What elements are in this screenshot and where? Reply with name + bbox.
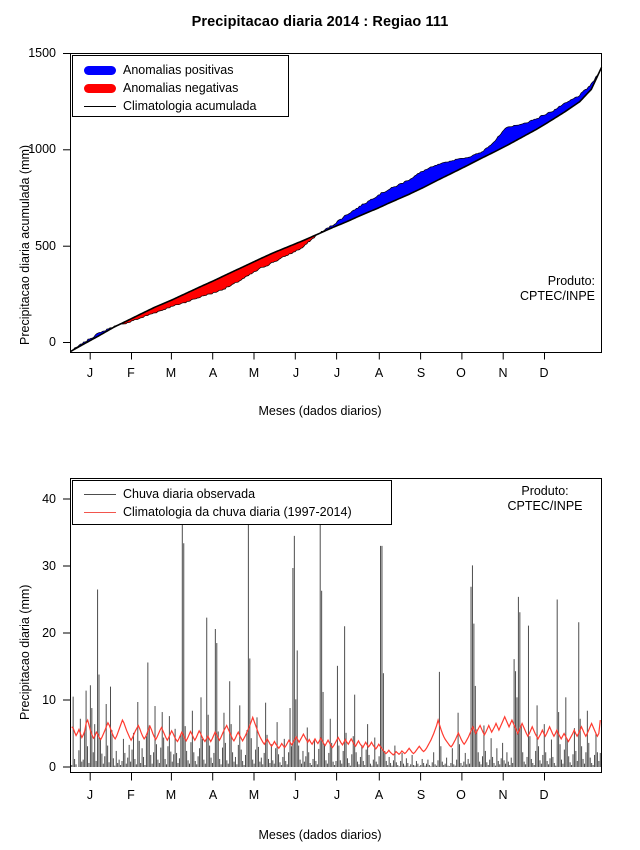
legend-item-anomalias-positivas: Anomalias positivas [77, 61, 284, 79]
legend-item-anomalias-negativas: Anomalias negativas [77, 79, 284, 97]
bottom-y-ticks [63, 499, 70, 767]
accumulated-precipitation-panel: Precipitacao diaria 2014 : Regiao 111 Pr… [0, 0, 640, 430]
figure-page: Precipitacao diaria 2014 : Regiao 111 Pr… [0, 0, 640, 850]
legend-label: Anomalias negativas [123, 81, 238, 95]
blue-swatch-icon [77, 66, 123, 75]
bottom-legend: Chuva diaria observada Climatologia da c… [72, 480, 392, 525]
daily-precipitation-panel: Precipitacao diaria (mm) 0 10 20 30 40 J… [0, 430, 640, 850]
legend-label: Climatologia da chuva diaria (1997-2014) [123, 505, 352, 519]
legend-label: Climatologia acumulada [123, 99, 256, 113]
legend-label: Chuva diaria observada [123, 487, 255, 501]
red-line-icon [77, 512, 123, 513]
legend-item-climatologia-acumulada: Climatologia acumulada [77, 97, 284, 115]
bottom-x-ticks [90, 773, 544, 781]
red-swatch-icon [77, 84, 123, 93]
grey-line-icon [77, 494, 123, 495]
legend-item-climatologia-diaria: Climatologia da chuva diaria (1997-2014) [77, 503, 387, 521]
top-y-ticks [63, 54, 70, 343]
top-legend: Anomalias positivas Anomalias negativas … [72, 55, 289, 117]
top-x-ticks [90, 353, 544, 360]
legend-item-chuva-observada: Chuva diaria observada [77, 485, 387, 503]
legend-label: Anomalias positivas [123, 63, 233, 77]
black-line-icon [77, 106, 123, 107]
